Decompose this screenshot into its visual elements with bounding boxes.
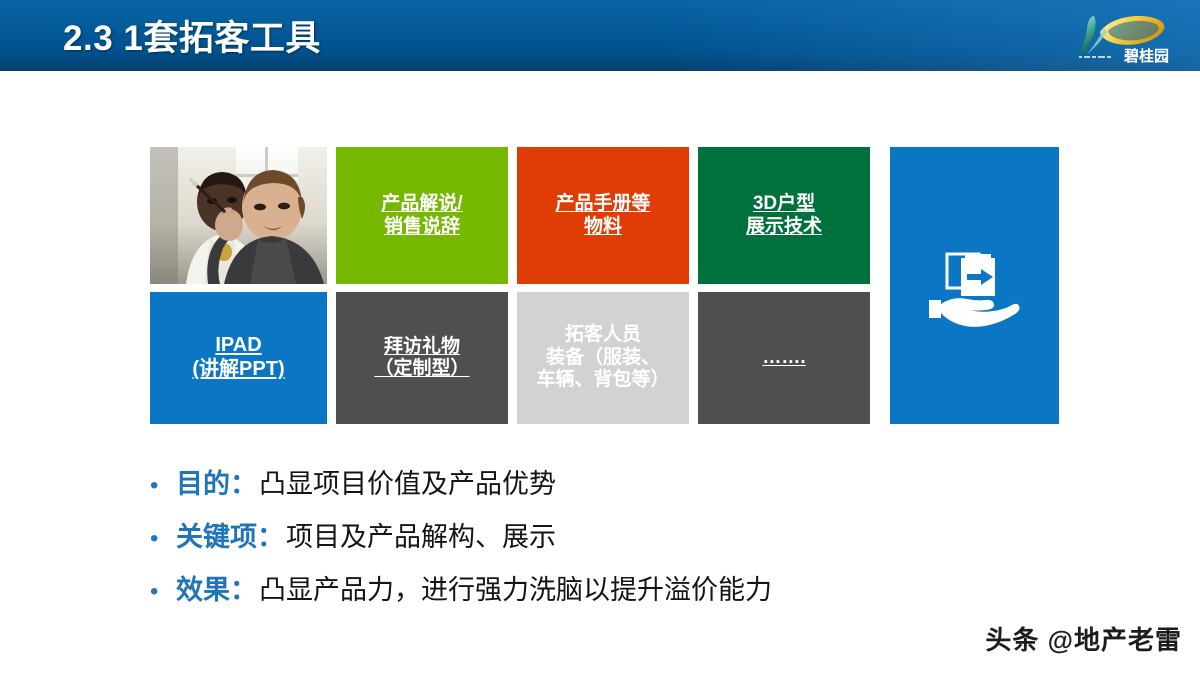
tile-3d-layout[interactable]: 3D户型 展示技术 [698, 147, 870, 284]
tile-line: IPAD [215, 334, 261, 356]
bullet-label: 效果： [176, 568, 257, 607]
bullet-body: 项目及产品解构、展示 [286, 515, 556, 554]
tools-grid: 产品解说/ 销售说辞 产品手册等 物料 3D户型 展示技术 IPAD (讲解PP… [150, 147, 1075, 424]
tile-line: ……. [756, 347, 811, 369]
bullet-item-key: • 关键项： 项目及产品解构、展示 [150, 515, 1050, 554]
bullet-marker-icon: • [150, 474, 176, 498]
bullet-list: • 目的： 凸显项目价值及产品优势 • 关键项： 项目及产品解构、展示 • 效果… [150, 462, 1050, 621]
tile-line: （定制型） [374, 358, 469, 379]
tile-line: 展示技术 [746, 216, 822, 237]
tile-line: 3D户型 [753, 193, 815, 214]
hand-card-arrow-svg [919, 230, 1031, 342]
tile-visit-gift[interactable]: 拜访礼物 （定制型） [336, 292, 508, 424]
tile-line: 物料 [584, 216, 622, 237]
handoff-panel[interactable] [890, 147, 1059, 424]
tile-photo [150, 147, 327, 284]
tile-ipad[interactable]: IPAD (讲解PPT) [150, 292, 327, 424]
logo-wordmark: 碧桂园 [1123, 47, 1169, 65]
people-photo-image [150, 147, 327, 284]
bullet-item-effect: • 效果： 凸显产品力，进行强力洗脑以提升溢价能力 [150, 568, 1050, 607]
bullet-item-purpose: • 目的： 凸显项目价值及产品优势 [150, 462, 1050, 501]
bullet-body: 凸显项目价值及产品优势 [259, 462, 556, 501]
tile-product-explanation[interactable]: 产品解说/ 销售说辞 [336, 147, 508, 284]
bullet-marker-icon: • [150, 580, 176, 604]
tile-line: 拓客人员 [565, 324, 641, 345]
tile-line: 车辆、背包等） [536, 369, 669, 390]
watermark: 头条 @地产老雷 [985, 620, 1182, 657]
tile-line: 产品解说/ [381, 193, 462, 214]
tile-line: (讲解PPT) [192, 358, 284, 380]
slide-header: 2.3 1套拓客工具 [0, 0, 1200, 71]
country-garden-logo-icon: 碧桂园 [1064, 6, 1186, 66]
hand-holding-card-arrow-icon [890, 147, 1059, 424]
tile-product-manual[interactable]: 产品手册等 物料 [517, 147, 689, 284]
tile-line: 拜访礼物 [384, 336, 460, 357]
tile-line: 装备（服装、 [546, 347, 660, 368]
tile-line: 销售说辞 [384, 216, 460, 237]
tile-line: 产品手册等 [555, 193, 650, 214]
page-title: 2.3 1套拓客工具 [63, 10, 321, 61]
bullet-marker-icon: • [150, 527, 176, 551]
tile-etc[interactable]: ……. [698, 292, 870, 424]
bullet-label: 目的： [176, 462, 257, 501]
bullet-label: 关键项： [176, 515, 284, 554]
company-logo: 碧桂园 [1064, 6, 1186, 66]
tile-staff-equipment[interactable]: 拓客人员 装备（服装、 车辆、背包等） [517, 292, 689, 424]
bullet-body: 凸显产品力，进行强力洗脑以提升溢价能力 [259, 568, 772, 607]
